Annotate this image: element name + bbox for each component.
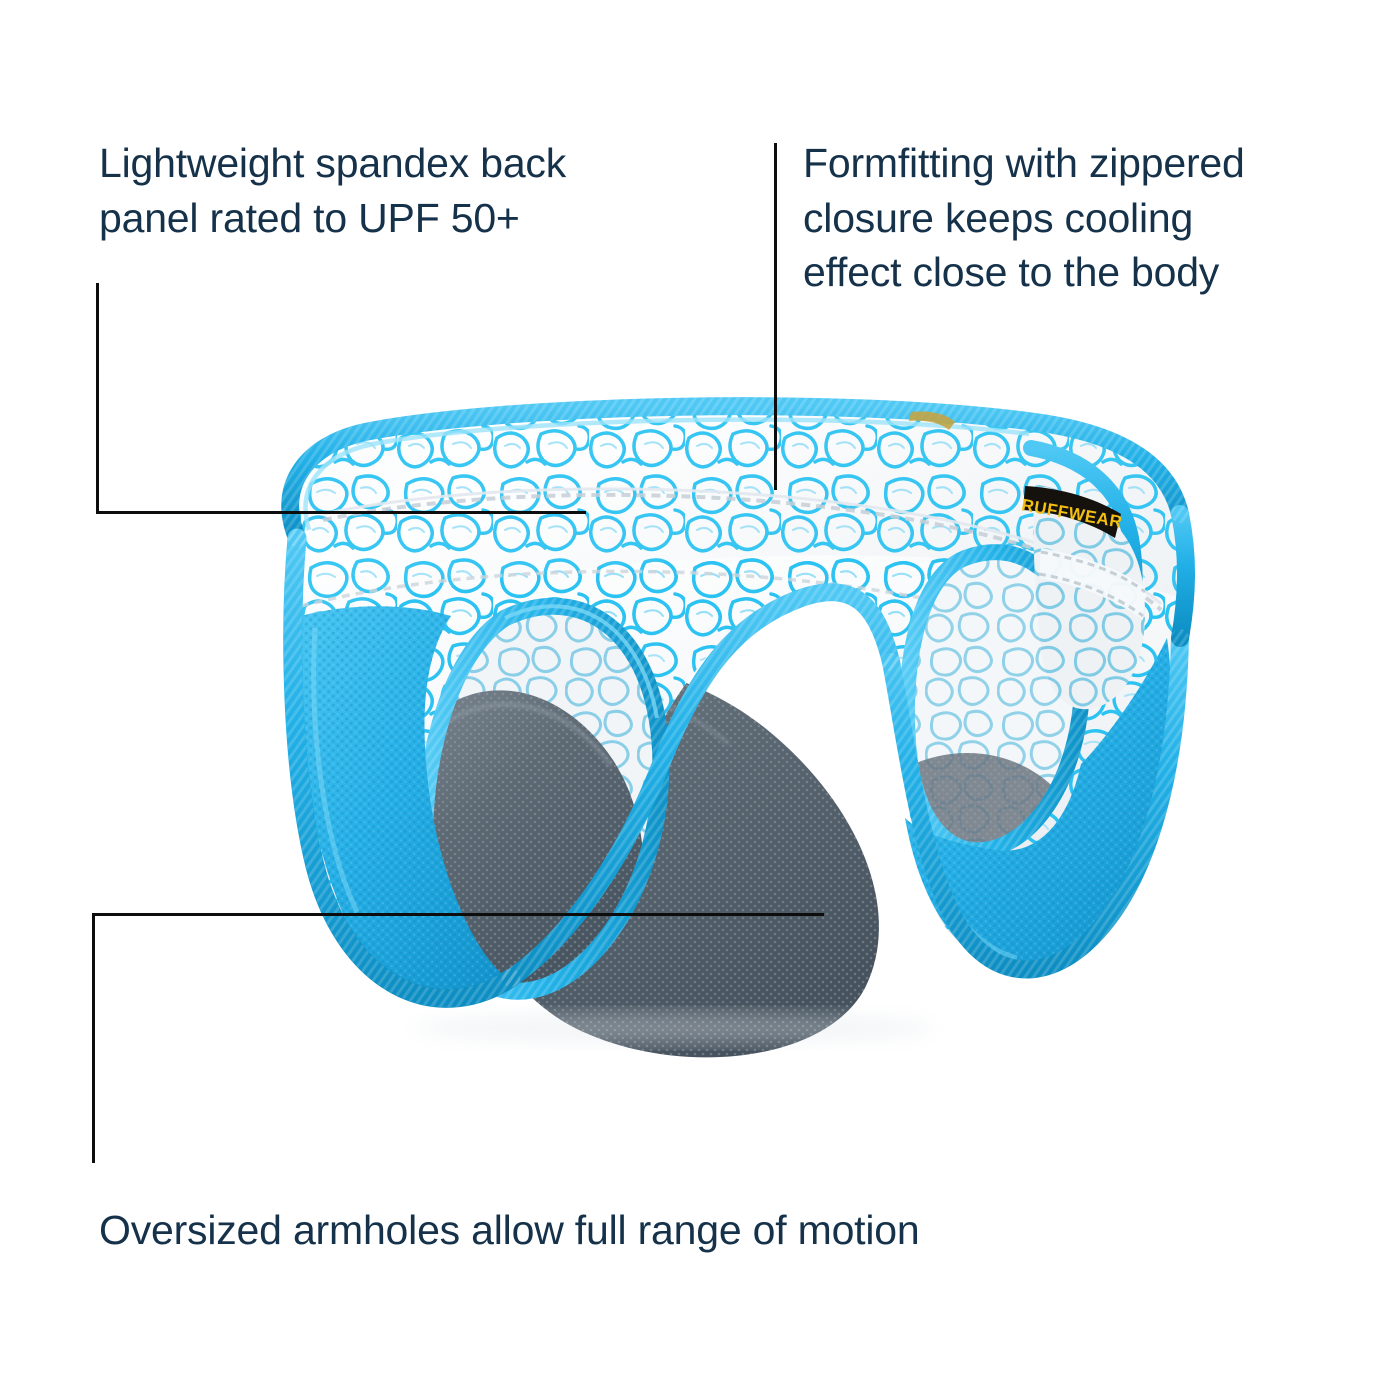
callout-text-back-panel: Lightweight spandex back panel rated to …	[99, 136, 699, 245]
leader-line-back-panel-vertical	[96, 283, 99, 514]
leader-line-armholes-horizontal	[92, 913, 824, 916]
infographic-canvas: RUFFWEAR Lightweight spandex back panel …	[0, 0, 1400, 1400]
leader-line-armholes-vertical	[92, 913, 95, 1163]
leader-line-zippered-closure	[774, 143, 777, 490]
product-image-dog-cooling-vest: RUFFWEAR	[205, 388, 1200, 1068]
leader-line-back-panel-horizontal	[96, 511, 586, 514]
callout-text-armholes: Oversized armholes allow full range of m…	[99, 1203, 1219, 1258]
callout-text-zippered-closure: Formfitting with zippered closure keeps …	[803, 136, 1363, 300]
